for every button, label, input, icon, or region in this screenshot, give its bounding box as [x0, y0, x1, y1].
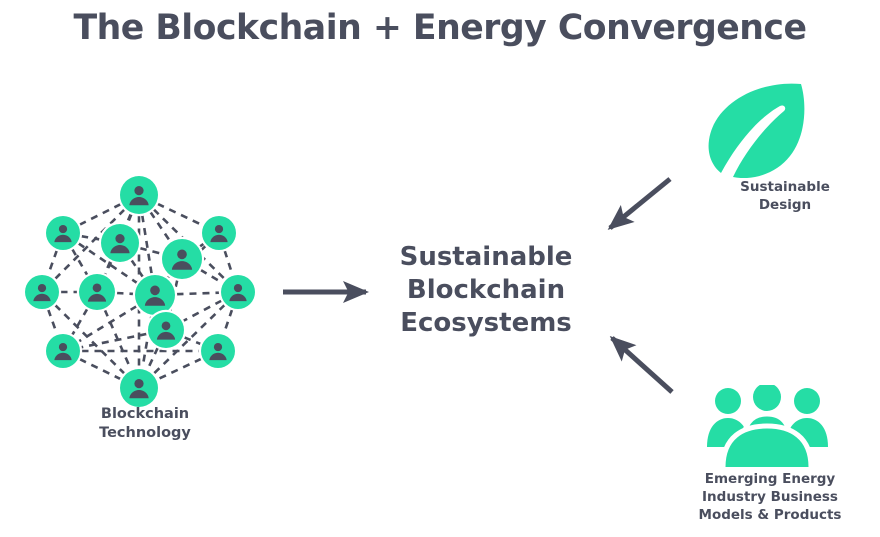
arrow-people-to-center: [612, 338, 672, 392]
page-title: The Blockchain + Energy Convergence: [4, 8, 875, 48]
person-icon-head: [162, 321, 171, 330]
network-edge: [224, 310, 232, 334]
network-edge: [131, 260, 143, 277]
network-edge: [72, 249, 87, 275]
network-edge: [81, 236, 100, 239]
network-edge: [116, 293, 133, 294]
network-edge: [200, 244, 204, 247]
network-edge: [176, 293, 219, 295]
network-node: [44, 332, 82, 370]
person-icon-head: [134, 379, 143, 388]
center-concept-text: Sustainable Blockchain Ecosystems: [378, 241, 594, 340]
label-line: Blockchain: [20, 405, 270, 424]
person-icon-head: [38, 284, 46, 292]
network-edge: [142, 215, 151, 274]
sustainable-design-group: Sustainable Design: [690, 78, 880, 228]
network-edge: [80, 204, 121, 225]
person-head-center: [753, 385, 781, 411]
leaf-icon: [700, 78, 820, 182]
network-node: [23, 273, 61, 311]
person-icon-head: [234, 284, 242, 292]
blockchain-technology-label: Blockchain Technology: [20, 405, 270, 443]
network-edge: [79, 306, 137, 341]
label-line: Technology: [20, 424, 270, 443]
person-icon-head: [134, 186, 143, 195]
person-icon-head: [150, 286, 160, 296]
network-node: [118, 174, 160, 216]
emerging-energy-group: Emerging Energy Industry Business Models…: [660, 385, 880, 535]
person-icon-head: [93, 283, 102, 292]
network-edge: [81, 334, 147, 347]
network-edge: [150, 212, 170, 241]
network-edge: [158, 204, 203, 225]
network-node: [219, 273, 257, 311]
person-head-right: [794, 388, 820, 414]
arrow-leaf-to-center: [610, 179, 670, 228]
network-edge: [201, 270, 223, 283]
people-group-icon-svg: [705, 385, 830, 467]
network-edge: [48, 250, 57, 274]
network-edge: [48, 309, 57, 333]
leaf-icon-svg: [700, 78, 820, 178]
center-line: Blockchain: [378, 274, 594, 307]
label-line: Design: [690, 196, 880, 214]
network-node: [146, 310, 186, 350]
label-line: Emerging Energy: [660, 470, 880, 488]
network-nodes: [23, 174, 257, 409]
network-node: [77, 272, 117, 312]
network-node: [118, 367, 160, 409]
emerging-energy-label: Emerging Energy Industry Business Models…: [660, 470, 880, 524]
network-edge: [225, 251, 233, 275]
center-line: Ecosystems: [378, 307, 594, 340]
label-line: Models & Products: [660, 506, 880, 524]
sustainable-design-label: Sustainable Design: [690, 178, 880, 214]
network-node: [199, 332, 237, 370]
network-node: [200, 214, 238, 252]
label-line: Industry Business: [660, 488, 880, 506]
network-edge: [72, 309, 87, 335]
person-icon-head: [59, 225, 67, 233]
person-head-left: [715, 388, 741, 414]
person-icon-head: [115, 234, 124, 243]
person-icon-head: [215, 225, 223, 233]
person-icon-head: [59, 343, 67, 351]
diagram-canvas: The Blockchain + Energy Convergence Bloc…: [0, 0, 880, 537]
network-node: [160, 237, 204, 281]
center-line: Sustainable: [378, 241, 594, 274]
person-icon-head: [177, 250, 187, 260]
network-node: [99, 222, 141, 264]
blockchain-network-group: Blockchain Technology: [0, 160, 290, 450]
network-node: [44, 214, 82, 252]
people-group-icon: [705, 385, 830, 471]
network-edge: [140, 248, 161, 254]
person-icon-head: [214, 343, 222, 351]
network-edge: [183, 301, 221, 321]
label-line: Sustainable: [690, 178, 880, 196]
